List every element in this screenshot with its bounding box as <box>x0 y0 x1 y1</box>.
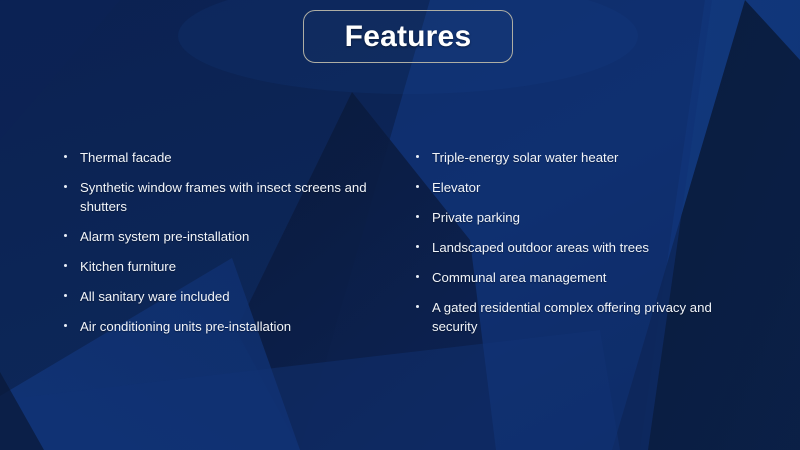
features-column-right: Triple-energy solar water heater Elevato… <box>412 148 742 336</box>
list-item: Triple-energy solar water heater <box>412 148 742 167</box>
page-title: Features <box>345 22 472 52</box>
list-item-label: Air conditioning units pre-installation <box>80 319 291 334</box>
list-item: A gated residential complex offering pri… <box>412 298 742 336</box>
bullet-dot-icon <box>416 215 419 218</box>
list-item-label: Communal area management <box>432 270 606 285</box>
list-item: All sanitary ware included <box>60 287 390 306</box>
bullet-dot-icon <box>416 155 419 158</box>
list-item-label: Private parking <box>432 210 520 225</box>
list-item-label: Synthetic window frames with insect scre… <box>80 180 367 214</box>
list-item: Kitchen furniture <box>60 257 390 276</box>
bullet-dot-icon <box>416 275 419 278</box>
list-item: Communal area management <box>412 268 742 287</box>
list-item-label: Elevator <box>432 180 480 195</box>
feature-list-right: Triple-energy solar water heater Elevato… <box>412 148 742 336</box>
bullet-dot-icon <box>64 155 67 158</box>
list-item-label: Triple-energy solar water heater <box>432 150 618 165</box>
list-item-label: All sanitary ware included <box>80 289 230 304</box>
bullet-dot-icon <box>416 305 419 308</box>
list-item: Private parking <box>412 208 742 227</box>
bullet-dot-icon <box>64 264 67 267</box>
feature-list-left: Thermal facade Synthetic window frames w… <box>60 148 390 336</box>
bullet-dot-icon <box>416 185 419 188</box>
list-item-label: Kitchen furniture <box>80 259 176 274</box>
list-item: Air conditioning units pre-installation <box>60 317 390 336</box>
bullet-dot-icon <box>64 324 67 327</box>
title-box: Features <box>303 10 513 63</box>
list-item: Elevator <box>412 178 742 197</box>
list-item: Synthetic window frames with insect scre… <box>60 178 390 216</box>
bullet-dot-icon <box>64 294 67 297</box>
slide-canvas: Features Thermal facade Synthetic window… <box>0 0 800 450</box>
features-column-left: Thermal facade Synthetic window frames w… <box>60 148 390 336</box>
list-item: Alarm system pre-installation <box>60 227 390 246</box>
list-item-label: Thermal facade <box>80 150 172 165</box>
list-item-label: A gated residential complex offering pri… <box>432 300 712 334</box>
bullet-dot-icon <box>64 234 67 237</box>
bullet-dot-icon <box>416 245 419 248</box>
list-item: Thermal facade <box>60 148 390 167</box>
list-item-label: Landscaped outdoor areas with trees <box>432 240 649 255</box>
list-item: Landscaped outdoor areas with trees <box>412 238 742 257</box>
list-item-label: Alarm system pre-installation <box>80 229 249 244</box>
bullet-dot-icon <box>64 185 67 188</box>
